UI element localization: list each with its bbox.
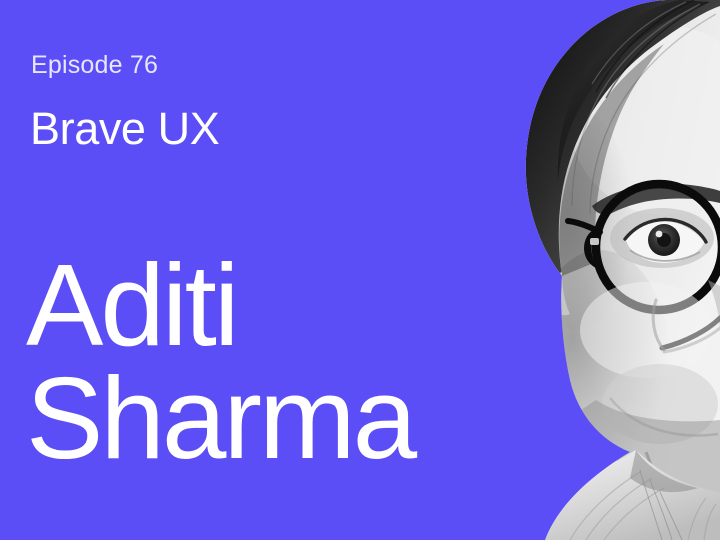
show-title: Brave UX [30,103,219,155]
guest-last-name: Sharma [26,362,414,475]
episode-label: Episode 76 [31,50,158,80]
guest-name: Aditi Sharma [26,249,414,474]
guest-portrait [450,0,720,540]
guest-portrait-image [450,0,720,540]
podcast-episode-cover: Episode 76 Brave UX Aditi Sharma [0,0,720,540]
guest-first-name: Aditi [26,249,414,362]
